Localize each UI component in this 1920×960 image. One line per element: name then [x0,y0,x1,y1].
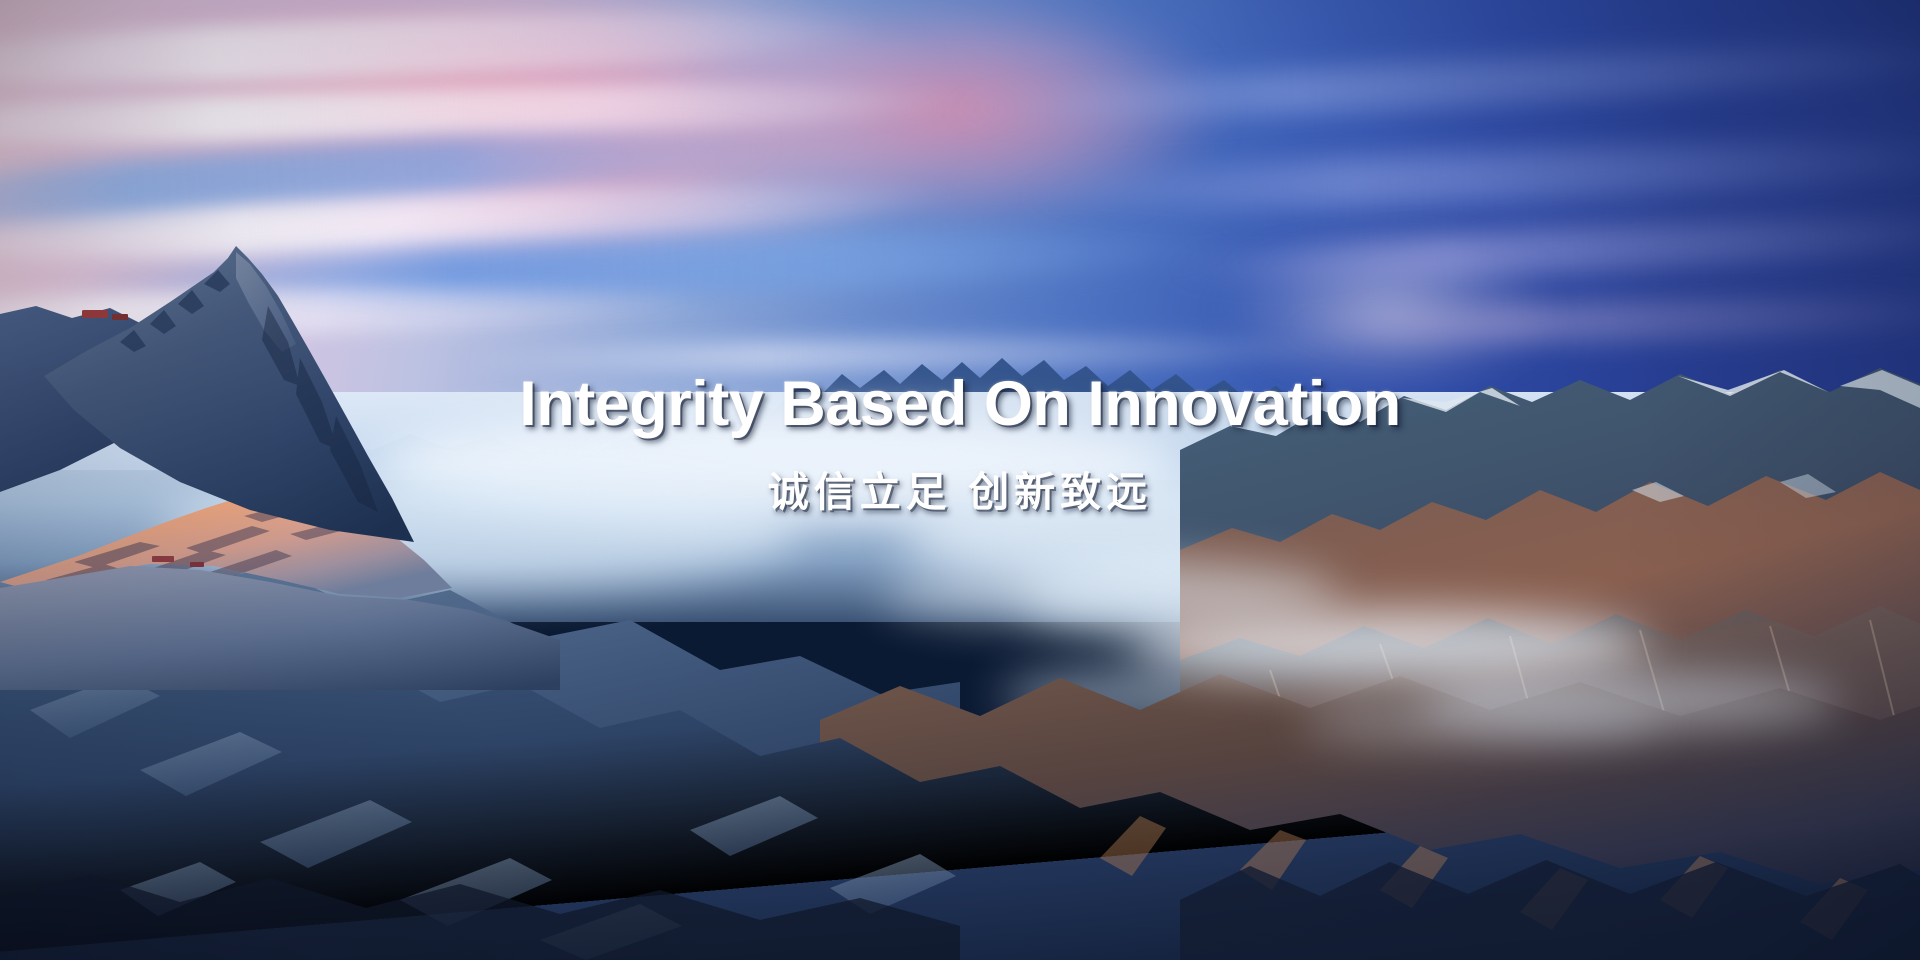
cloud-wisp-center [880,560,1340,624]
sharp-summit-peak [0,230,520,590]
cloud-wisp-right-3 [1300,700,1660,744]
hero-banner: Integrity Based On Innovation 诚信立足 创新致远 [0,0,1920,960]
